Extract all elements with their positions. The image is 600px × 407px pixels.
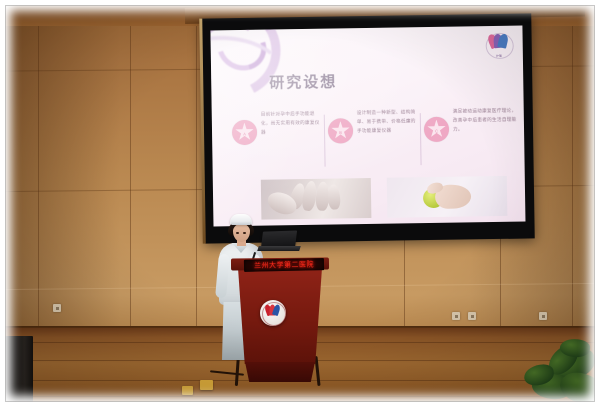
- star-badge-icon: A: [232, 120, 257, 145]
- presentation-slide: 护理 研究设想 A 目前针对孕中后手功能退化，尚无实用有效的康复仪器 B: [210, 26, 525, 227]
- wall-outlet: [452, 312, 460, 320]
- nurse-cap: [230, 214, 252, 225]
- column-text: 设计制造一种新型、结构简单、易于携带、价格低廉的手功能康复仪器: [357, 109, 420, 137]
- wall-shadow-left: [0, 0, 120, 335]
- presentation-photograph: 护理 研究设想 A 目前针对孕中后手功能退化，尚无实用有效的康复仪器 B: [0, 0, 600, 407]
- badge-letter: B: [339, 129, 342, 134]
- loudspeaker-cabinet: [5, 336, 33, 402]
- slide-column: A 目前针对孕中后手功能退化，尚无实用有效的康复仪器: [232, 111, 325, 145]
- wall-outlet: [539, 312, 547, 320]
- hand-photo: [261, 178, 372, 220]
- slide-column: C 满足被动运动康复医疗理论，改善孕中后患者的生活自理能力。: [424, 108, 519, 142]
- presenter-face: [233, 224, 250, 242]
- slide-photos: [227, 176, 520, 221]
- wall-seam: [572, 0, 573, 335]
- podium: 兰州大学第二医院: [236, 258, 324, 384]
- floor-marker: [182, 386, 193, 395]
- potted-plant: [506, 327, 598, 405]
- logo-caption: 护理: [485, 54, 513, 58]
- wall-seam: [38, 0, 39, 335]
- star-badge-icon: B: [328, 118, 353, 143]
- led-display-text: 兰州大学第二医院: [244, 258, 324, 272]
- ball-squeeze-photo: [387, 176, 508, 218]
- projection-screen: 护理 研究设想 A 目前针对孕中后手功能退化，尚无实用有效的康复仪器 B: [201, 13, 534, 243]
- slide-columns: A 目前针对孕中后手功能退化，尚无实用有效的康复仪器 B 设计制造一种新型、结构…: [226, 108, 519, 175]
- wall-outlet: [468, 312, 476, 320]
- star-badge-icon: C: [424, 117, 449, 142]
- column-text: 目前针对孕中后手功能退化，尚无实用有效的康复仪器: [261, 111, 324, 139]
- badge-letter: C: [435, 128, 438, 133]
- badge-letter: A: [243, 131, 246, 136]
- wall-outlet: [53, 304, 61, 312]
- slide-title: 研究设想: [269, 70, 337, 92]
- hospital-emblem-icon: [260, 300, 286, 326]
- podium-base: [245, 362, 315, 382]
- organization-logo-icon: 护理: [485, 32, 513, 58]
- column-text: 满足被动运动康复医疗理论，改善孕中后患者的生活自理能力。: [453, 108, 518, 136]
- slide-column: B 设计制造一种新型、结构简单、易于携带、价格低廉的手功能康复仪器: [328, 109, 421, 143]
- wall-seam: [130, 0, 131, 335]
- floor-marker: [200, 380, 213, 390]
- led-display: 兰州大学第二医院: [244, 258, 324, 272]
- wall-seam: [196, 0, 197, 335]
- laptop: [258, 231, 298, 251]
